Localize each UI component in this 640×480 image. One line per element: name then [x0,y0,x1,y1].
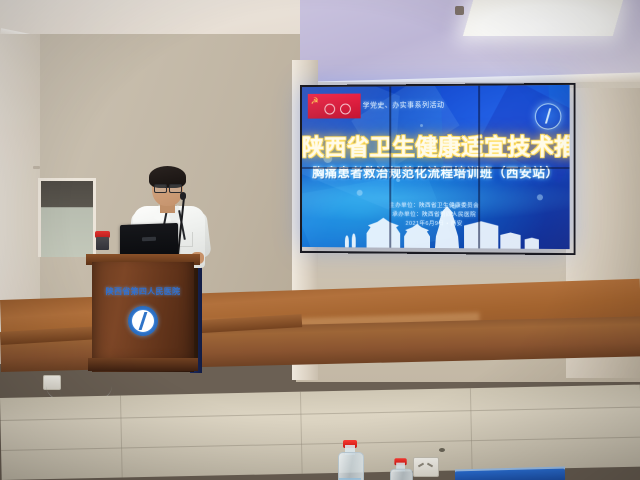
podium-base [88,358,198,371]
microphone-icon [180,192,186,200]
ceiling-light-fixture [455,6,464,15]
blue-folder[interactable] [455,469,565,480]
floor-tile-line [120,395,123,477]
bottle-body [338,452,364,480]
wall-outlet-front[interactable] [413,457,439,477]
window-recess [38,178,96,257]
podium-hospital-name: 陕西省第四人民医院 [92,286,194,297]
roundel-ring [131,309,155,333]
glasses-bridge [165,187,169,188]
audience-floor [0,385,640,480]
water-bottle[interactable] [338,440,362,480]
laptop-icon[interactable] [120,223,178,257]
travel-cup [96,237,109,250]
ceiling-panel-light-icon [463,0,623,36]
conference-photo-scene: ☭ 学党史、办实事系列活动 陕西省卫生健康适宜技术推广项目 胸痛患者救治规范化流… [0,0,640,480]
bottle-body [390,469,413,480]
podium: 陕西省第四人民医院 [92,262,194,372]
floor-debris [439,448,445,452]
laptop-logo [142,237,156,241]
floor-tile-line [0,407,640,421]
hospital-roundel-icon [128,306,158,336]
led-video-wall[interactable]: ☭ 学党史、办实事系列活动 陕西省卫生健康适宜技术推广项目 胸痛患者救治规范化流… [302,85,570,249]
wall-mark [33,166,40,169]
screen-glare [302,85,570,249]
floor-tile-line [1,437,640,451]
glasses-icon [154,184,167,193]
glasses-icon [169,184,182,193]
water-bottle[interactable] [390,458,411,480]
floor-tile-line [300,392,303,474]
floor-tile-line [470,388,473,470]
